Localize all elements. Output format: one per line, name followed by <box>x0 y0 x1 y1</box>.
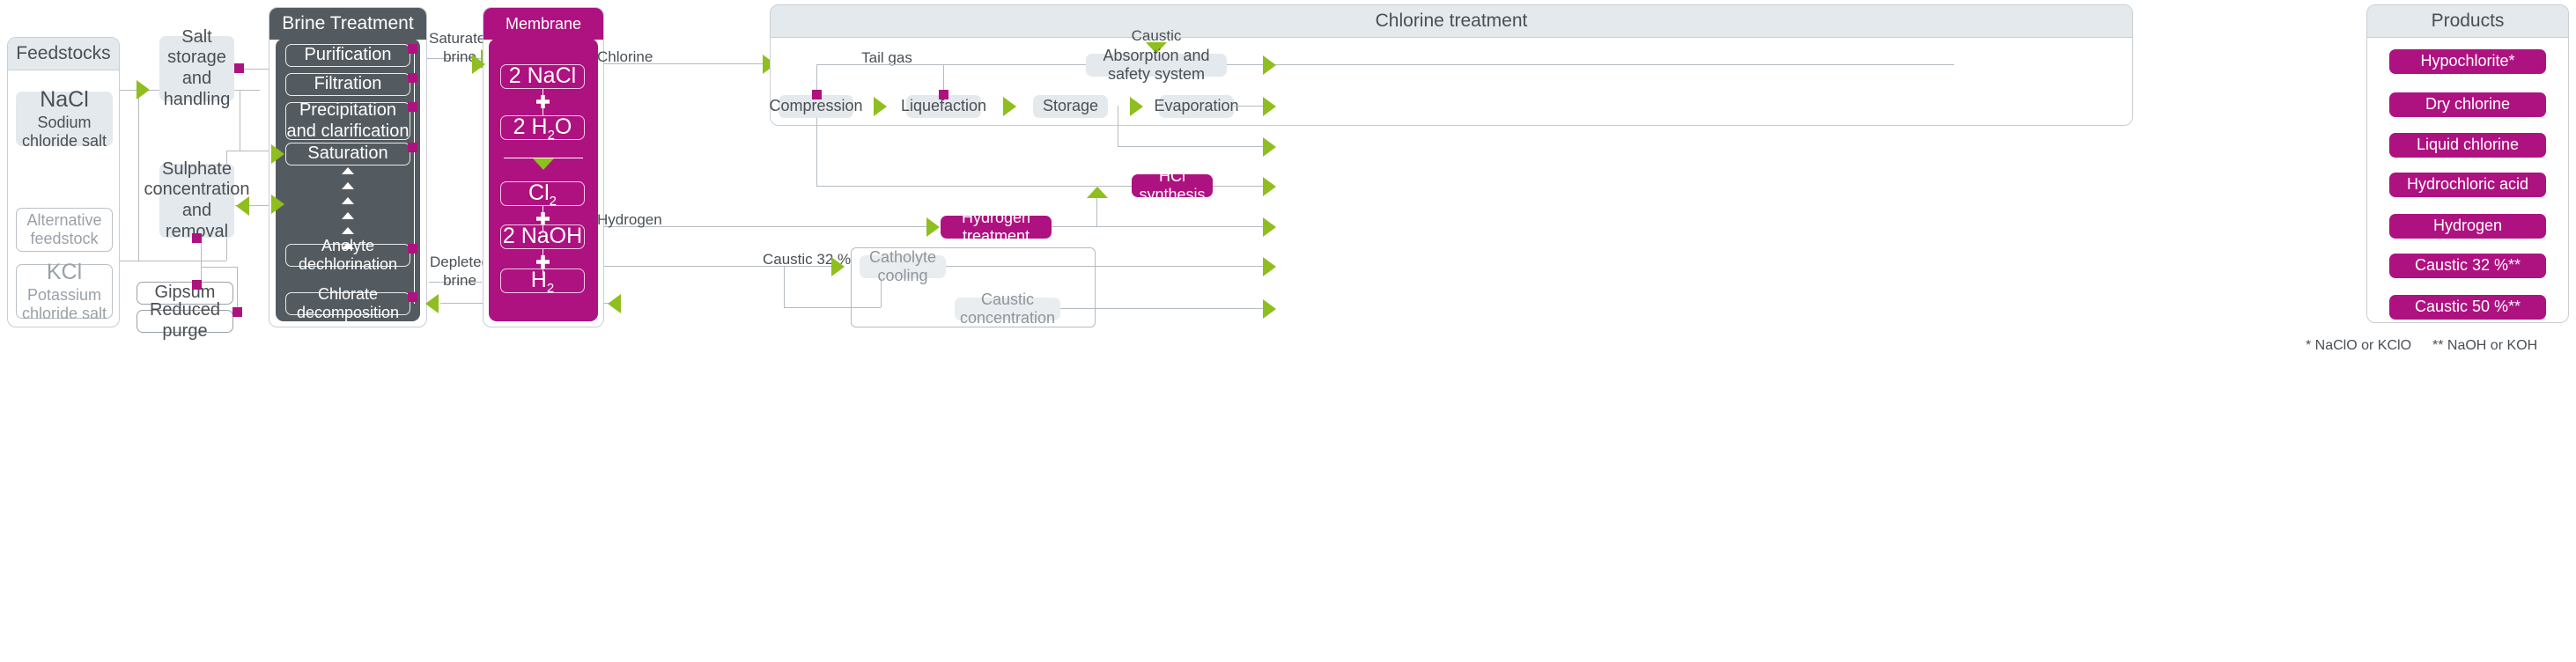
arrow-reaction-direction <box>533 158 554 170</box>
brine-step-purification[interactable]: Purification <box>285 44 410 67</box>
brine-upflow-arrow-4 <box>342 212 354 219</box>
brine-step-chlorate-decomposition[interactable]: Chlorate decomposition <box>285 292 410 315</box>
feedstock-nacl-desc1: Sodium <box>37 114 91 132</box>
arrow-to-liquid-chlorine <box>1263 137 1276 157</box>
reactant-nacl[interactable]: 2 NaCl <box>500 64 585 89</box>
product-caustic-32[interactable]: Caustic 32 %** <box>2389 254 2546 278</box>
brine-nub-filtration <box>408 73 417 83</box>
feedstock-item-kcl[interactable]: KCl Potassium chloride salt <box>16 264 113 319</box>
arrow-liquefaction-to-storage <box>1003 97 1016 116</box>
product-dry-chlorine-label: Dry chlorine <box>2425 95 2510 114</box>
brine-nub-anolyte <box>408 244 417 254</box>
product-chlorine-base: Cl <box>528 180 550 205</box>
feedstock-alt-name: Alternative <box>26 211 101 230</box>
chlorine-step-evaporation[interactable]: Evaporation <box>1159 95 1234 118</box>
caustic-concentration-label: Caustic concentration <box>955 291 1060 327</box>
arrow-into-membrane <box>472 55 485 74</box>
brine-upflow-arrow-5 <box>342 227 354 234</box>
brine-step-filtration[interactable]: Filtration <box>285 73 410 96</box>
feedstocks-header: Feedstocks <box>8 38 119 70</box>
chlorine-step-compression-label: Compression <box>769 97 862 115</box>
brine-treatment-header: Brine Treatment <box>269 8 426 40</box>
arrow-to-hydrochloric-acid <box>1263 177 1276 196</box>
connector-kcl-branch <box>119 261 226 261</box>
salt-storage-box[interactable]: Salt storage and handling <box>159 36 234 101</box>
product-hydrogen-base: H <box>531 268 547 292</box>
caustic-concentration-box[interactable]: Caustic concentration <box>955 298 1060 320</box>
feedstock-kcl-name: KCl <box>47 260 82 286</box>
arrow-to-dry-chlorine <box>1263 97 1276 116</box>
hydrogen-treatment-box[interactable]: Hydrogen treatment <box>941 216 1052 239</box>
arrow-nacl-to-saltstorage <box>137 80 150 99</box>
gipsum-connector-nub <box>192 280 202 290</box>
arrow-depleted-brine <box>608 294 621 313</box>
feedstock-alt-desc1: feedstock <box>30 230 98 248</box>
hcl-synthesis-label: HCl synthesis <box>1132 167 1213 204</box>
catholyte-cooling-box[interactable]: Catholyte cooling <box>860 255 946 278</box>
product-hydrochloric-acid[interactable]: Hydrochloric acid <box>2389 173 2546 197</box>
catholyte-cooling-label: Catholyte cooling <box>860 248 946 285</box>
chlorine-treatment-header: Chlorine treatment <box>771 5 2132 38</box>
brine-step-precipitation[interactable]: Precipitation and clarification <box>285 102 410 140</box>
salt-storage-label-l1: Salt storage <box>159 27 234 69</box>
reactant-nacl-label: 2 NaCl <box>509 63 576 90</box>
brine-step-purification-label: Purification <box>305 45 392 66</box>
reduced-purge-label: Reduced purge <box>137 300 233 342</box>
chlorine-step-liquefaction-label: Liquefaction <box>901 97 986 115</box>
chlorine-step-storage-label: Storage <box>1043 97 1098 115</box>
reactant-water-sub: 2 <box>548 128 555 143</box>
connector-liquid-chlorine-down <box>1118 106 1118 146</box>
product-hypochlorite-label: Hypochlorite* <box>2420 52 2514 70</box>
brine-step-saturation-label: Saturation <box>307 143 388 165</box>
label-depleted-brine-l1: Depleted <box>429 253 491 271</box>
connector-chlorate-in <box>440 303 481 304</box>
products-header: Products <box>2367 5 2568 38</box>
brine-upflow-arrow-2 <box>342 182 354 189</box>
feedstock-item-alternative[interactable]: Alternative feedstock <box>16 208 113 252</box>
connector-catholyte-recycle-up <box>784 266 785 307</box>
product-liquid-chlorine-label: Liquid chlorine <box>2417 136 2519 154</box>
product-chlorine[interactable]: Cl2 <box>500 181 585 206</box>
connector-liquid-chlorine-right <box>1118 146 1271 147</box>
absorption-safety-system-label: Absorption and safety system <box>1086 47 1227 84</box>
arrow-into-brine-mid <box>271 195 284 214</box>
brine-recycle-line <box>414 48 415 304</box>
reactant-water-coef: 2 <box>513 114 526 139</box>
connector-caustic-concentration-out <box>1060 308 1271 309</box>
reactant-water-tail: O <box>555 114 572 139</box>
liquefaction-nub <box>939 90 948 99</box>
product-caustic-32-label: Caustic 32 %** <box>2415 256 2521 275</box>
product-dry-chlorine[interactable]: Dry chlorine <box>2389 92 2546 117</box>
reactant-water-base: H <box>532 114 548 139</box>
connector-catholyte-out <box>946 266 1271 267</box>
reduced-purge-connector-nub <box>233 307 242 317</box>
brine-step-saturation[interactable]: Saturation <box>285 143 410 165</box>
connector-sulphate-down <box>201 238 202 286</box>
process-flow-diagram: Feedstocks NaCl Sodium chloride salt Alt… <box>0 0 2576 662</box>
product-hydrogen[interactable]: Hydrogen <box>2389 214 2546 239</box>
arrow-into-sulphate <box>236 196 249 216</box>
label-saturated-brine-l1: Saturated <box>429 29 491 48</box>
product-caustic-label: 2 NaOH <box>503 224 582 250</box>
connector-hcl-feed-right <box>816 186 1132 187</box>
brine-upflow-arrow-3 <box>342 197 354 204</box>
sulphate-removal-box[interactable]: Sulphate concentration and removal <box>159 164 234 238</box>
brine-upflow-arrow-1 <box>342 167 354 174</box>
feedstock-nacl-name: NaCl <box>40 87 89 114</box>
arrow-into-saturation <box>271 144 284 164</box>
feedstock-kcl-desc1: Potassium <box>27 286 101 305</box>
arrow-to-hydrogen-product <box>1263 217 1276 237</box>
arrow-hydrogen-into-hcl <box>1087 187 1108 198</box>
connector-feedstock-vertical <box>138 90 139 261</box>
product-hydrogen[interactable]: H2 <box>500 268 585 293</box>
feedstocks-panel: Feedstocks NaCl Sodium chloride salt Alt… <box>7 37 120 327</box>
label-hydrogen: Hydrogen <box>597 210 703 229</box>
sulphate-label-l1: Sulphate <box>162 159 232 180</box>
hydrogen-treatment-label: Hydrogen treatment <box>941 209 1052 246</box>
arrow-to-hypochlorite <box>1263 55 1276 75</box>
product-hydrochloric-acid-label: Hydrochloric acid <box>2407 175 2528 194</box>
compression-nub <box>812 90 822 99</box>
arrow-compression-to-liquefaction <box>874 97 887 116</box>
connector-saltstorage-down <box>240 90 240 151</box>
connector-purge-vertical <box>237 267 238 312</box>
chlorine-step-storage[interactable]: Storage <box>1033 95 1108 118</box>
footnote-two: ** NaOH or KOH <box>2432 338 2537 354</box>
product-liquid-chlorine[interactable]: Liquid chlorine <box>2389 133 2546 158</box>
arrow-hydrogen-to-treatment <box>926 217 940 237</box>
arrow-to-caustic-32 <box>1263 257 1276 276</box>
salt-storage-connector-nub <box>234 63 244 73</box>
reactant-water[interactable]: 2 H2O <box>500 115 585 140</box>
connector-purge-horizontal <box>201 267 238 268</box>
absorption-safety-system[interactable]: Absorption and safety system <box>1086 54 1227 77</box>
sulphate-connector-nub <box>192 233 202 243</box>
brine-upflow-arrow-6 <box>342 242 354 249</box>
product-caustic-50-label: Caustic 50 %** <box>2415 298 2521 316</box>
brine-nub-precipitation <box>408 102 417 112</box>
arrow-caustic-to-cooling <box>831 257 845 276</box>
label-chlorine: Chlorine <box>597 48 703 66</box>
chlorine-step-evaporation-label: Evaporation <box>1154 97 1238 115</box>
label-depleted-brine: Depleted brine <box>429 253 491 291</box>
product-hydrogen-label: Hydrogen <box>2433 217 2502 235</box>
product-caustic[interactable]: 2 NaOH <box>500 224 585 249</box>
footnote-one: * NaClO or KClO <box>2306 338 2411 354</box>
reduced-purge-box[interactable]: Reduced purge <box>137 310 233 333</box>
connector-hcl-feed-down <box>816 118 817 186</box>
hcl-synthesis-box[interactable]: HCl synthesis <box>1132 174 1213 197</box>
brine-step-precipitation-label-l2: and clarification <box>287 121 410 143</box>
membrane-electrolysis-header: Membrane electrolysis <box>483 8 603 40</box>
connector-hydrogen-treatment-out <box>1052 226 1271 227</box>
feedstock-kcl-desc2: chloride salt <box>22 305 107 323</box>
brine-step-filtration-label: Filtration <box>314 74 382 95</box>
feedstock-item-nacl[interactable]: NaCl Sodium chloride salt <box>16 92 113 146</box>
arrow-chlorate-in <box>425 294 439 313</box>
product-hypochlorite[interactable]: Hypochlorite* <box>2389 49 2546 74</box>
product-chlorine-sub: 2 <box>550 194 557 209</box>
product-hydrogen-sub: 2 <box>547 281 554 296</box>
brine-step-precipitation-label-l1: Precipitation <box>299 100 396 121</box>
brine-step-chlorate-label: Chlorate decomposition <box>286 285 410 322</box>
brine-nub-chlorate <box>408 292 417 302</box>
brine-nub-saturation <box>408 143 417 152</box>
connector-catholyte-recycle <box>784 307 881 308</box>
sulphate-label-l2: concentration <box>144 180 249 201</box>
label-depleted-brine-l2: brine <box>429 271 491 290</box>
brine-nub-purification <box>408 44 417 54</box>
salt-storage-label-l2: and handling <box>159 69 234 110</box>
arrow-to-caustic-50 <box>1263 299 1276 319</box>
feedstock-nacl-desc2: chloride salt <box>22 132 107 151</box>
connector-tail-gas <box>816 64 1954 65</box>
arrow-storage-to-evaporation <box>1130 97 1143 116</box>
connector-catholyte-down <box>881 278 882 307</box>
connector-hydrogen-to-hcl <box>1096 197 1097 226</box>
product-caustic-50[interactable]: Caustic 50 %** <box>2389 295 2546 320</box>
